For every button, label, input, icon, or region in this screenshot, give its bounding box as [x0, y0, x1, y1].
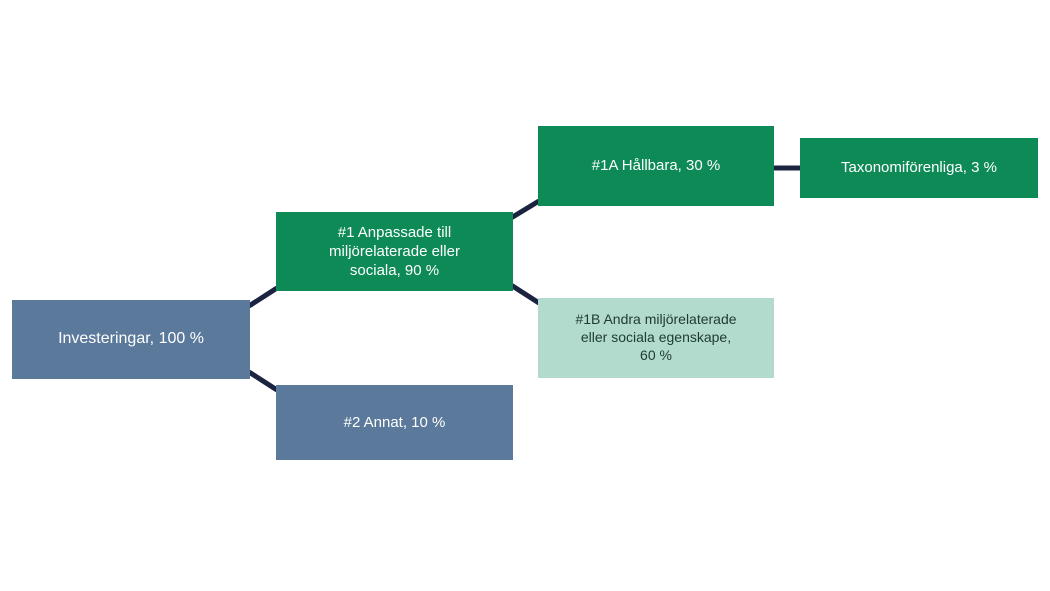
node-annat-label: #2 Annat, 10 %	[286, 413, 503, 432]
connector-layer	[0, 0, 1050, 591]
node-anpassade: #1 Anpassade till miljörelaterade eller …	[276, 212, 513, 291]
connector-investeringar-anpassade	[249, 288, 277, 306]
node-andra: #1B Andra miljörelaterade eller sociala …	[538, 298, 774, 378]
node-andra-label: #1B Andra miljörelaterade eller sociala …	[548, 311, 764, 365]
node-taxonomi: Taxonomiförenliga, 3 %	[800, 138, 1038, 198]
node-hallbara: #1A Hållbara, 30 %	[538, 126, 774, 206]
node-investeringar-label: Investeringar, 100 %	[22, 329, 240, 349]
node-taxonomi-label: Taxonomiförenliga, 3 %	[810, 158, 1028, 177]
diagram-canvas: Investeringar, 100 % #1 Anpassade till m…	[0, 0, 1050, 591]
node-anpassade-label: #1 Anpassade till miljörelaterade eller …	[286, 223, 503, 281]
connector-anpassade-hallbara	[511, 201, 539, 218]
connector-anpassade-andra	[511, 285, 539, 303]
node-investeringar: Investeringar, 100 %	[12, 300, 250, 379]
connector-investeringar-annat	[249, 372, 277, 390]
node-hallbara-label: #1A Hållbara, 30 %	[548, 156, 764, 175]
node-annat: #2 Annat, 10 %	[276, 385, 513, 460]
